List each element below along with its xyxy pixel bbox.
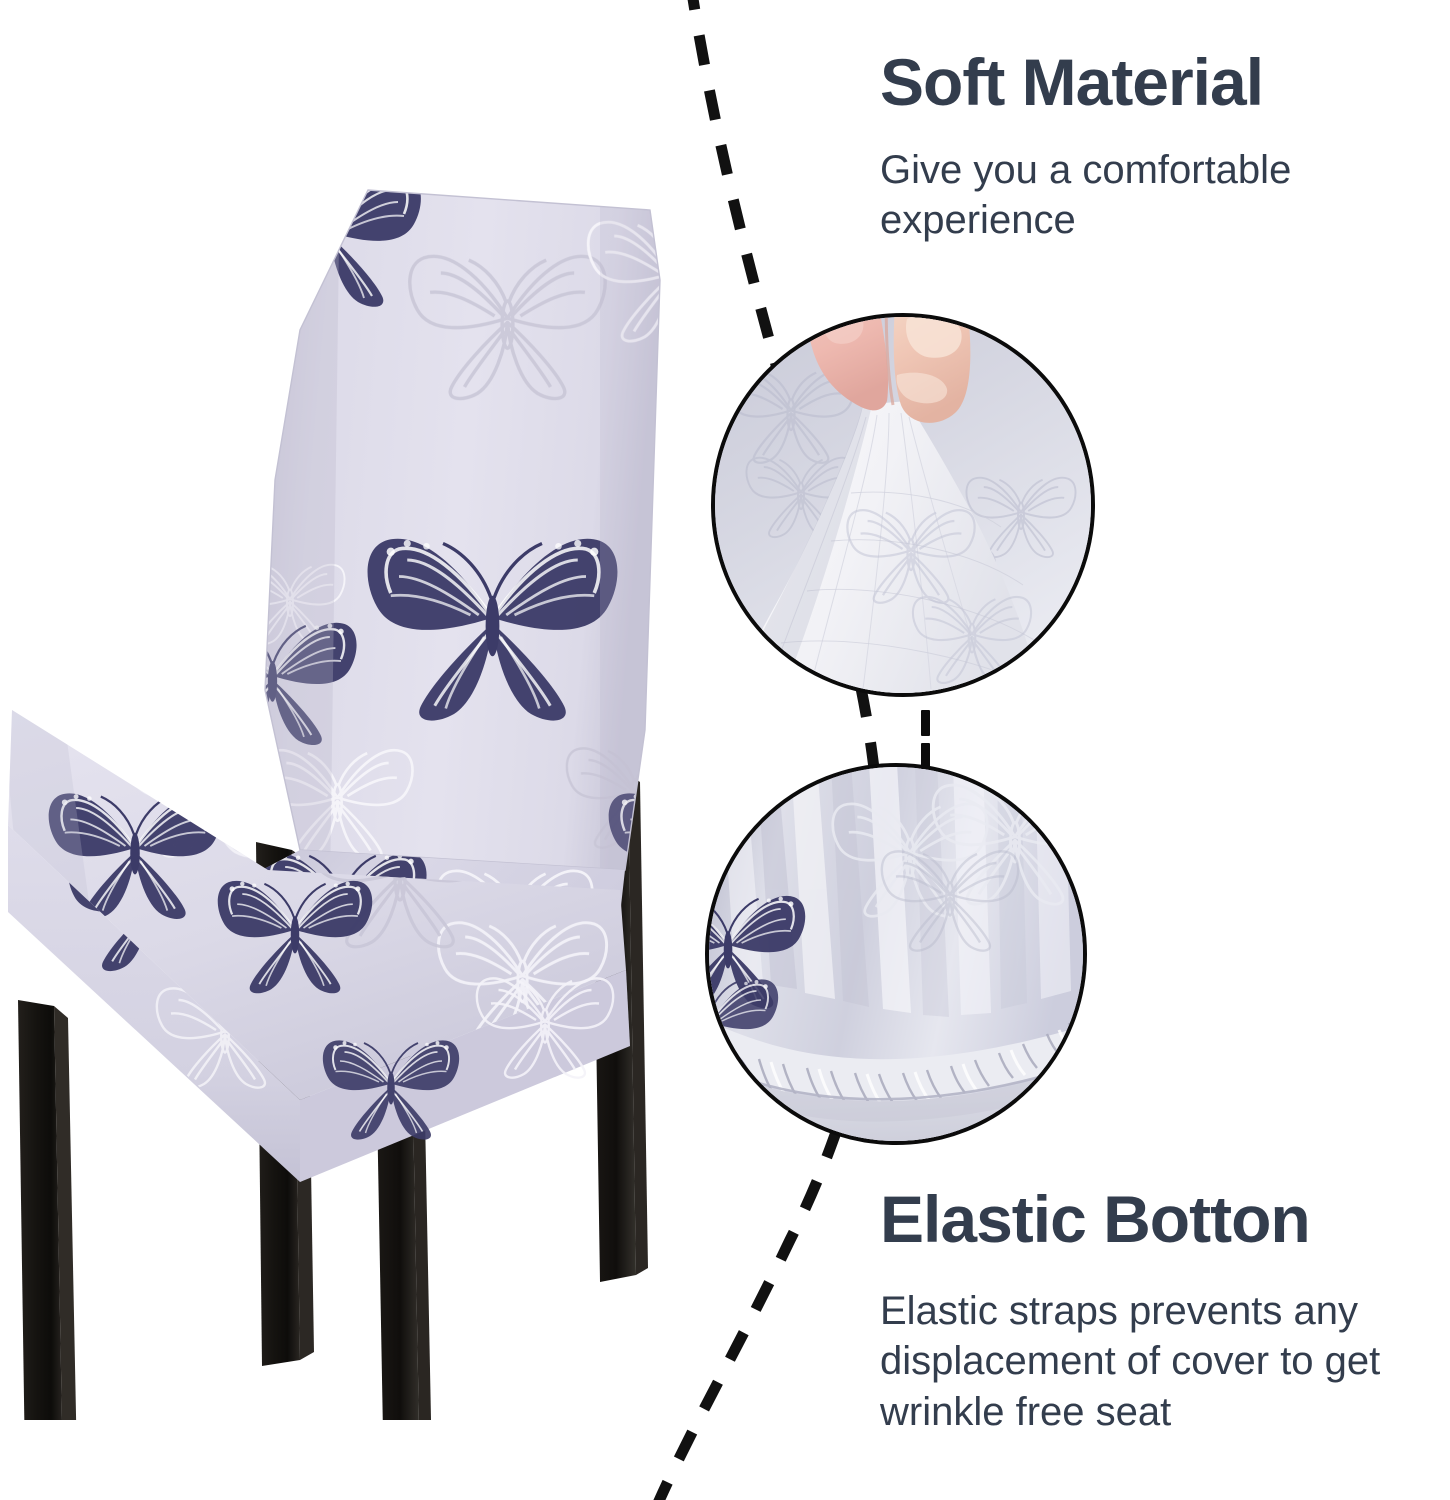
fabric-pinch-photo (711, 313, 1095, 697)
feature-elastic-botton: Elastic Botton Elastic straps prevents a… (880, 1185, 1440, 1438)
soft-material-subtext: Give you a comfortable experience (880, 145, 1390, 247)
soft-material-heading: Soft Material (880, 48, 1440, 117)
elastic-hem-photo (705, 763, 1087, 1145)
connector-dash-upper (921, 710, 930, 736)
chair-backrest (188, 170, 760, 919)
chair-product-photo (0, 170, 760, 1420)
infographic-canvas: Soft Material Give you a comfortable exp… (0, 0, 1450, 1500)
elastic-botton-subtext: Elastic straps prevents any displacement… (880, 1286, 1425, 1438)
elastic-botton-heading: Elastic Botton (880, 1185, 1440, 1254)
feature-soft-material: Soft Material Give you a comfortable exp… (880, 48, 1440, 246)
connector-dash-lower (921, 743, 930, 769)
